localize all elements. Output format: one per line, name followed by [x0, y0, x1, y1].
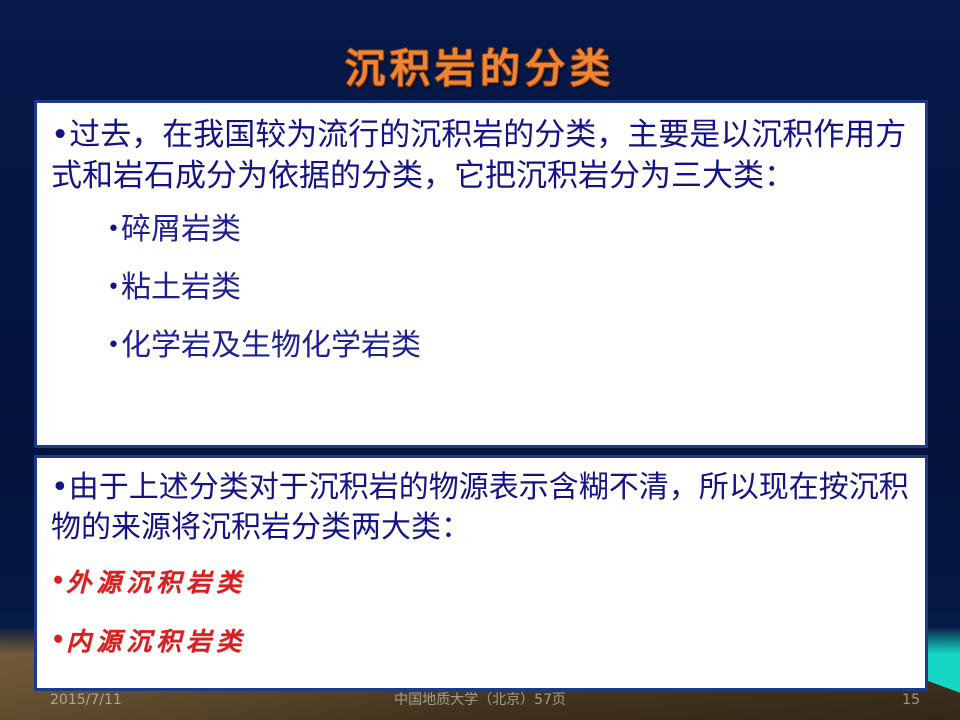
bullet-icon: •: [107, 275, 120, 300]
panel-bottom-paragraph: •由于上述分类对于沉积岩的物源表示含糊不清，所以现在按沉积物的来源将沉积岩分类两…: [51, 468, 911, 548]
list-item: •内源沉积岩类: [51, 629, 911, 654]
list-item-label: 粘土岩类: [121, 270, 241, 305]
list-item-label: 内源沉积岩类: [66, 627, 246, 656]
slide-title: 沉积岩的分类: [0, 36, 960, 94]
list-item-label: 化学岩及生物化学岩类: [121, 328, 421, 363]
content-panel-bottom: •由于上述分类对于沉积岩的物源表示含糊不清，所以现在按沉积物的来源将沉积岩分类两…: [34, 455, 928, 691]
footer-page-number: 15: [902, 692, 920, 706]
source-classification-list: •外源沉积岩类 •内源沉积岩类: [51, 570, 911, 654]
list-item: •化学岩及生物化学岩类: [107, 331, 911, 361]
slide-footer: 2015/7/11 中国地质大学（北京）57页 15: [0, 690, 960, 720]
bullet-icon: •: [107, 333, 120, 358]
slide-canvas: 沉积岩的分类 •过去，在我国较为流行的沉积岩的分类，主要是以沉积作用方式和岩石成…: [0, 0, 960, 720]
content-panel-top: •过去，在我国较为流行的沉积岩的分类，主要是以沉积作用方式和岩石成分为依据的分类…: [34, 100, 928, 448]
classification-sub-list: •碎屑岩类 •粘土岩类 •化学岩及生物化学岩类: [51, 215, 911, 361]
list-item-label: 碎屑岩类: [121, 212, 241, 247]
list-item: •外源沉积岩类: [51, 570, 911, 595]
bullet-icon: •: [107, 217, 120, 242]
panel-top-paragraph: •过去，在我国较为流行的沉积岩的分类，主要是以沉积作用方式和岩石成分为依据的分类…: [51, 115, 911, 197]
list-item: •粘土岩类: [107, 273, 911, 303]
bullet-icon: •: [51, 627, 65, 653]
footer-date: 2015/7/11: [50, 692, 122, 706]
footer-institution: 中国地质大学（北京）57页: [394, 692, 566, 706]
bullet-icon: •: [51, 568, 65, 594]
list-item-label: 外源沉积岩类: [66, 568, 246, 597]
list-item: •碎屑岩类: [107, 215, 911, 245]
